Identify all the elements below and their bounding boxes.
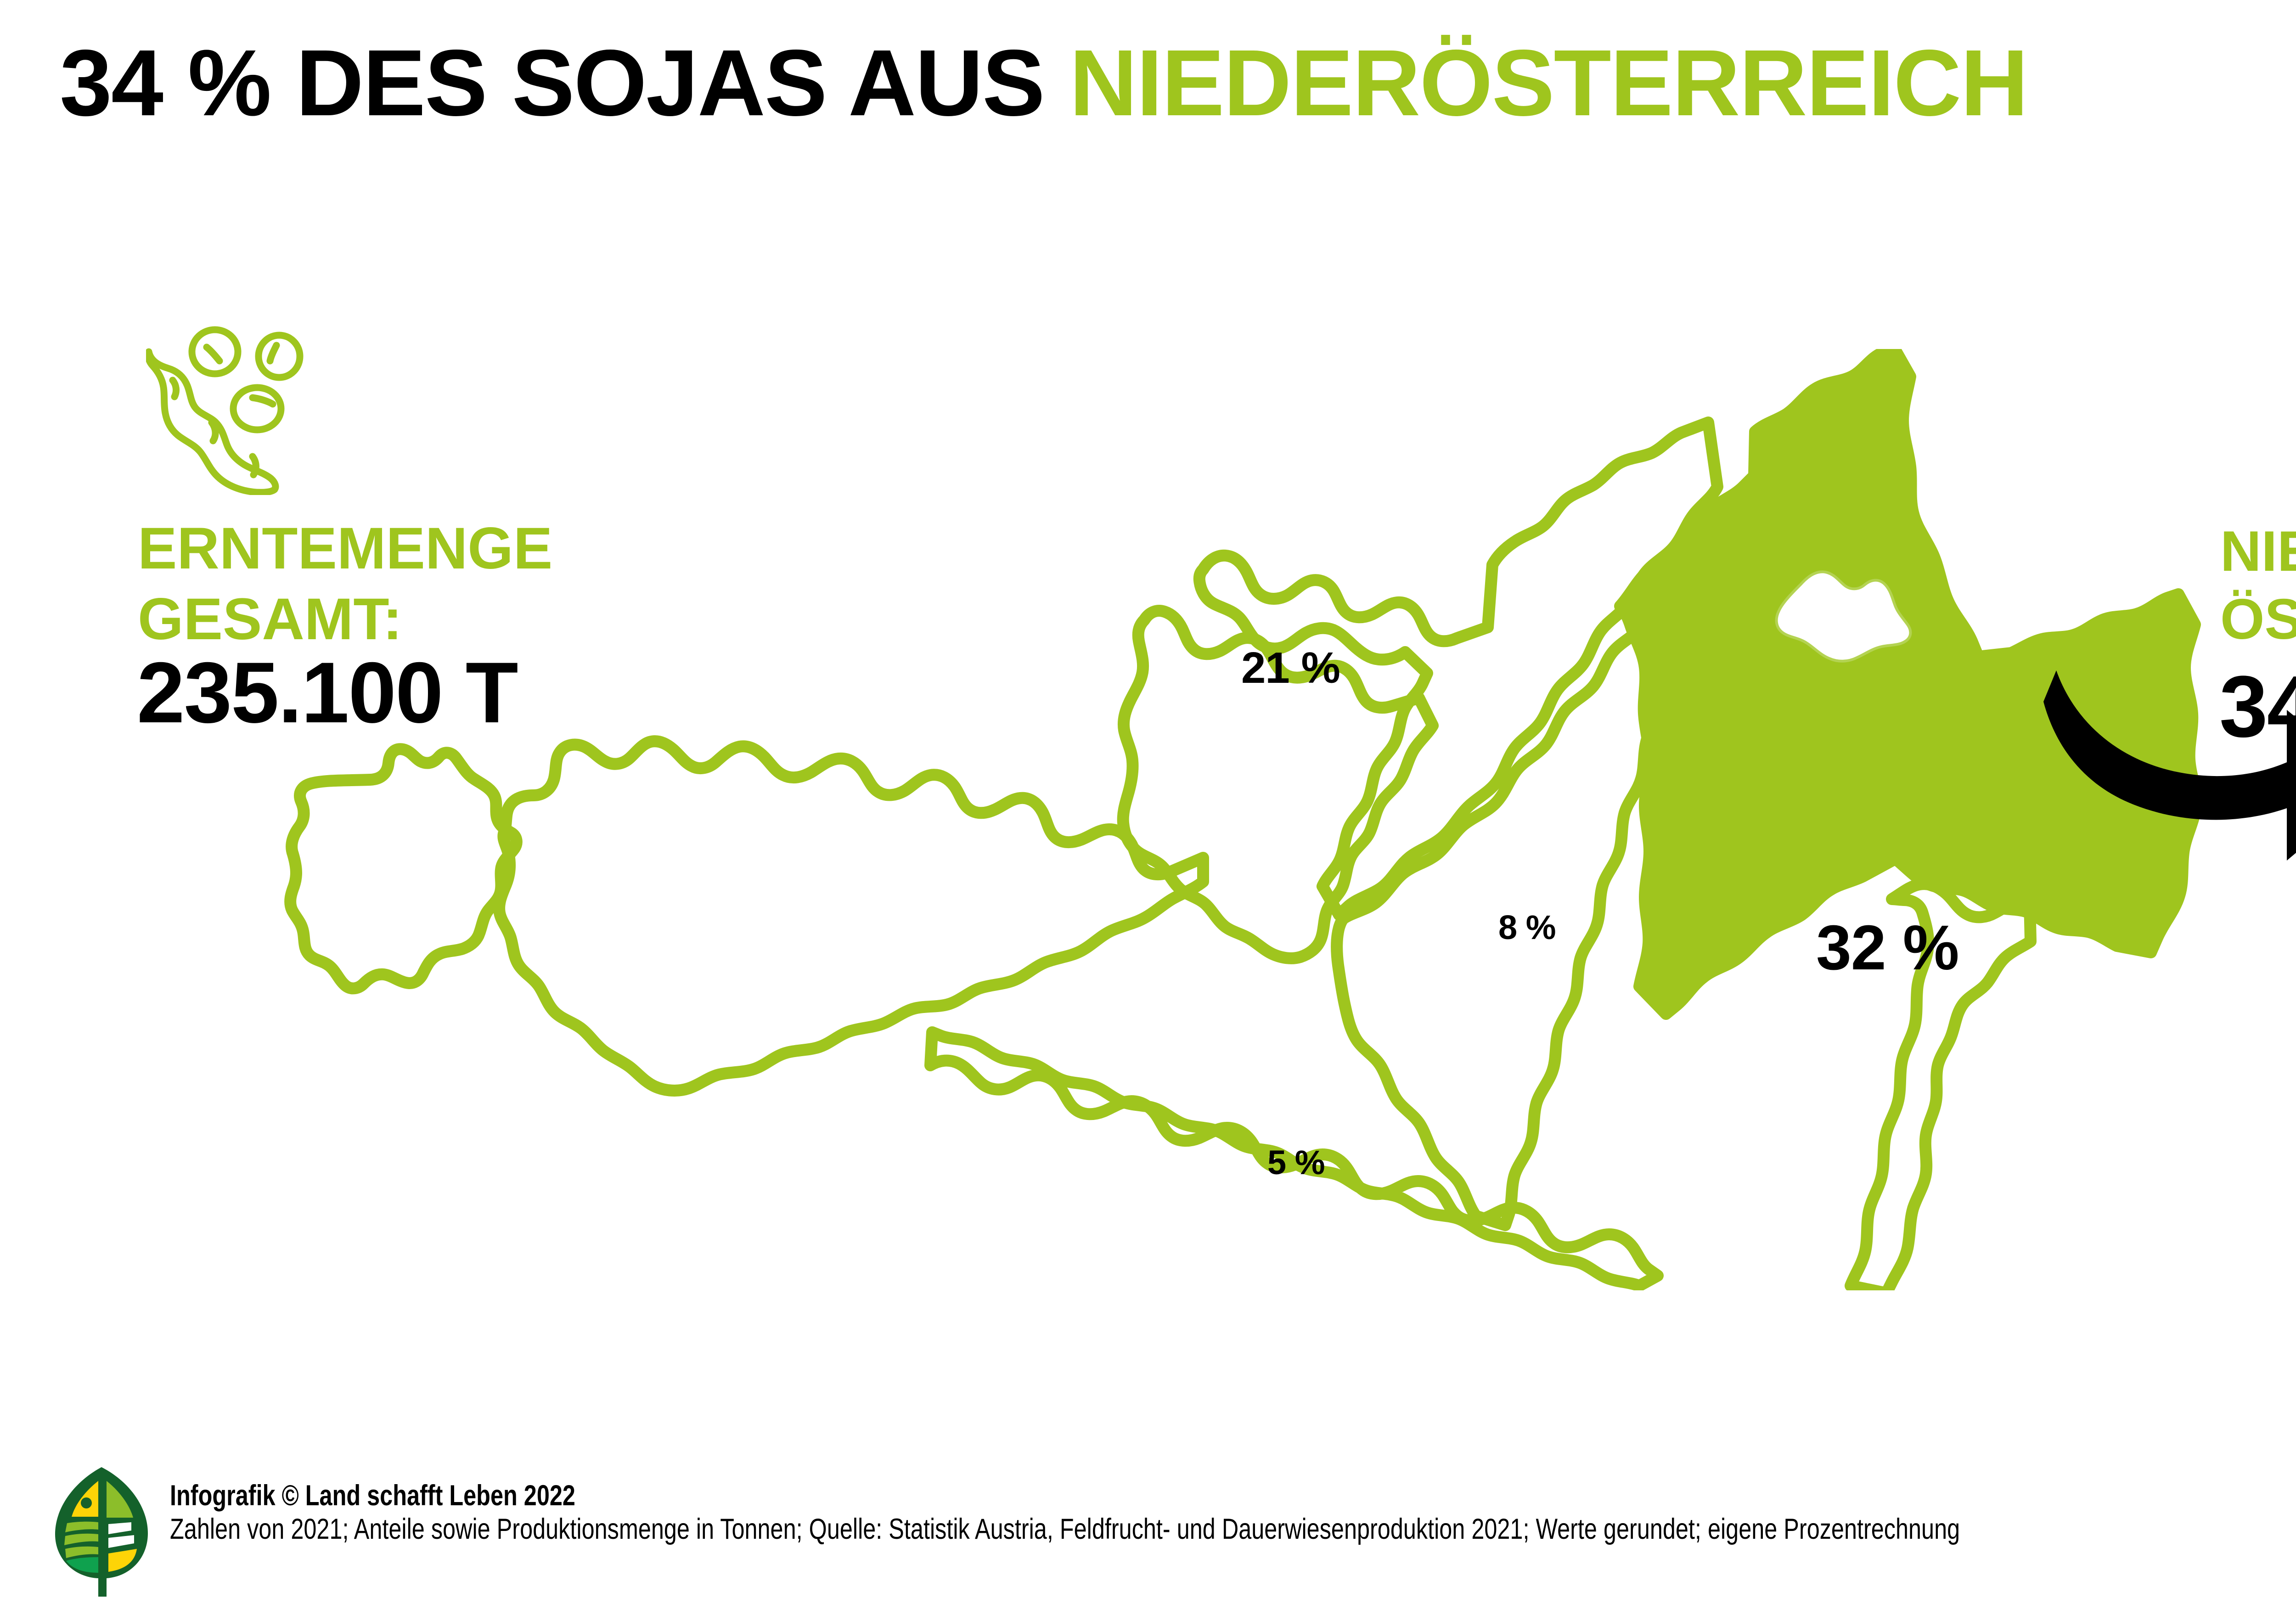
title-accent: NIEDERÖSTERREICH bbox=[1069, 30, 2028, 135]
map-label-steiermark: 8 % bbox=[1498, 908, 1556, 947]
highlight-region-label-line2: ÖSTERREICH bbox=[2220, 586, 2296, 654]
highlight-region-label: NIEDER- ÖSTERREICH bbox=[2220, 518, 2296, 653]
map-label-burgenland: 32 % bbox=[1816, 912, 1959, 985]
highlight-region-label-line1: NIEDER- bbox=[2220, 518, 2296, 586]
page-title: 34 % DES SOJAS AUS NIEDERÖSTERREICH bbox=[60, 36, 2296, 130]
title-lead: 34 % DES SOJAS AUS bbox=[60, 30, 1069, 135]
footer-copyright: Infografik © Land schafft Leben 2022 bbox=[170, 1479, 2293, 1513]
highlight-region-value: 34 % bbox=[2219, 657, 2296, 757]
land-schafft-leben-leaf-logo bbox=[51, 1465, 152, 1598]
map-label-oberoesterreich: 21 % bbox=[1241, 643, 1340, 693]
footer-source: Zahlen von 2021; Anteile sowie Produktio… bbox=[170, 1513, 2293, 1546]
map-label-kaernten: 5 % bbox=[1267, 1143, 1325, 1182]
footer: Infografik © Land schafft Leben 2022 Zah… bbox=[51, 1463, 2296, 1600]
infographic-page: 34 % DES SOJAS AUS NIEDERÖSTERREICH bbox=[0, 0, 2296, 1615]
region-tirol bbox=[499, 741, 1203, 1091]
region-vorarlberg bbox=[290, 749, 517, 988]
